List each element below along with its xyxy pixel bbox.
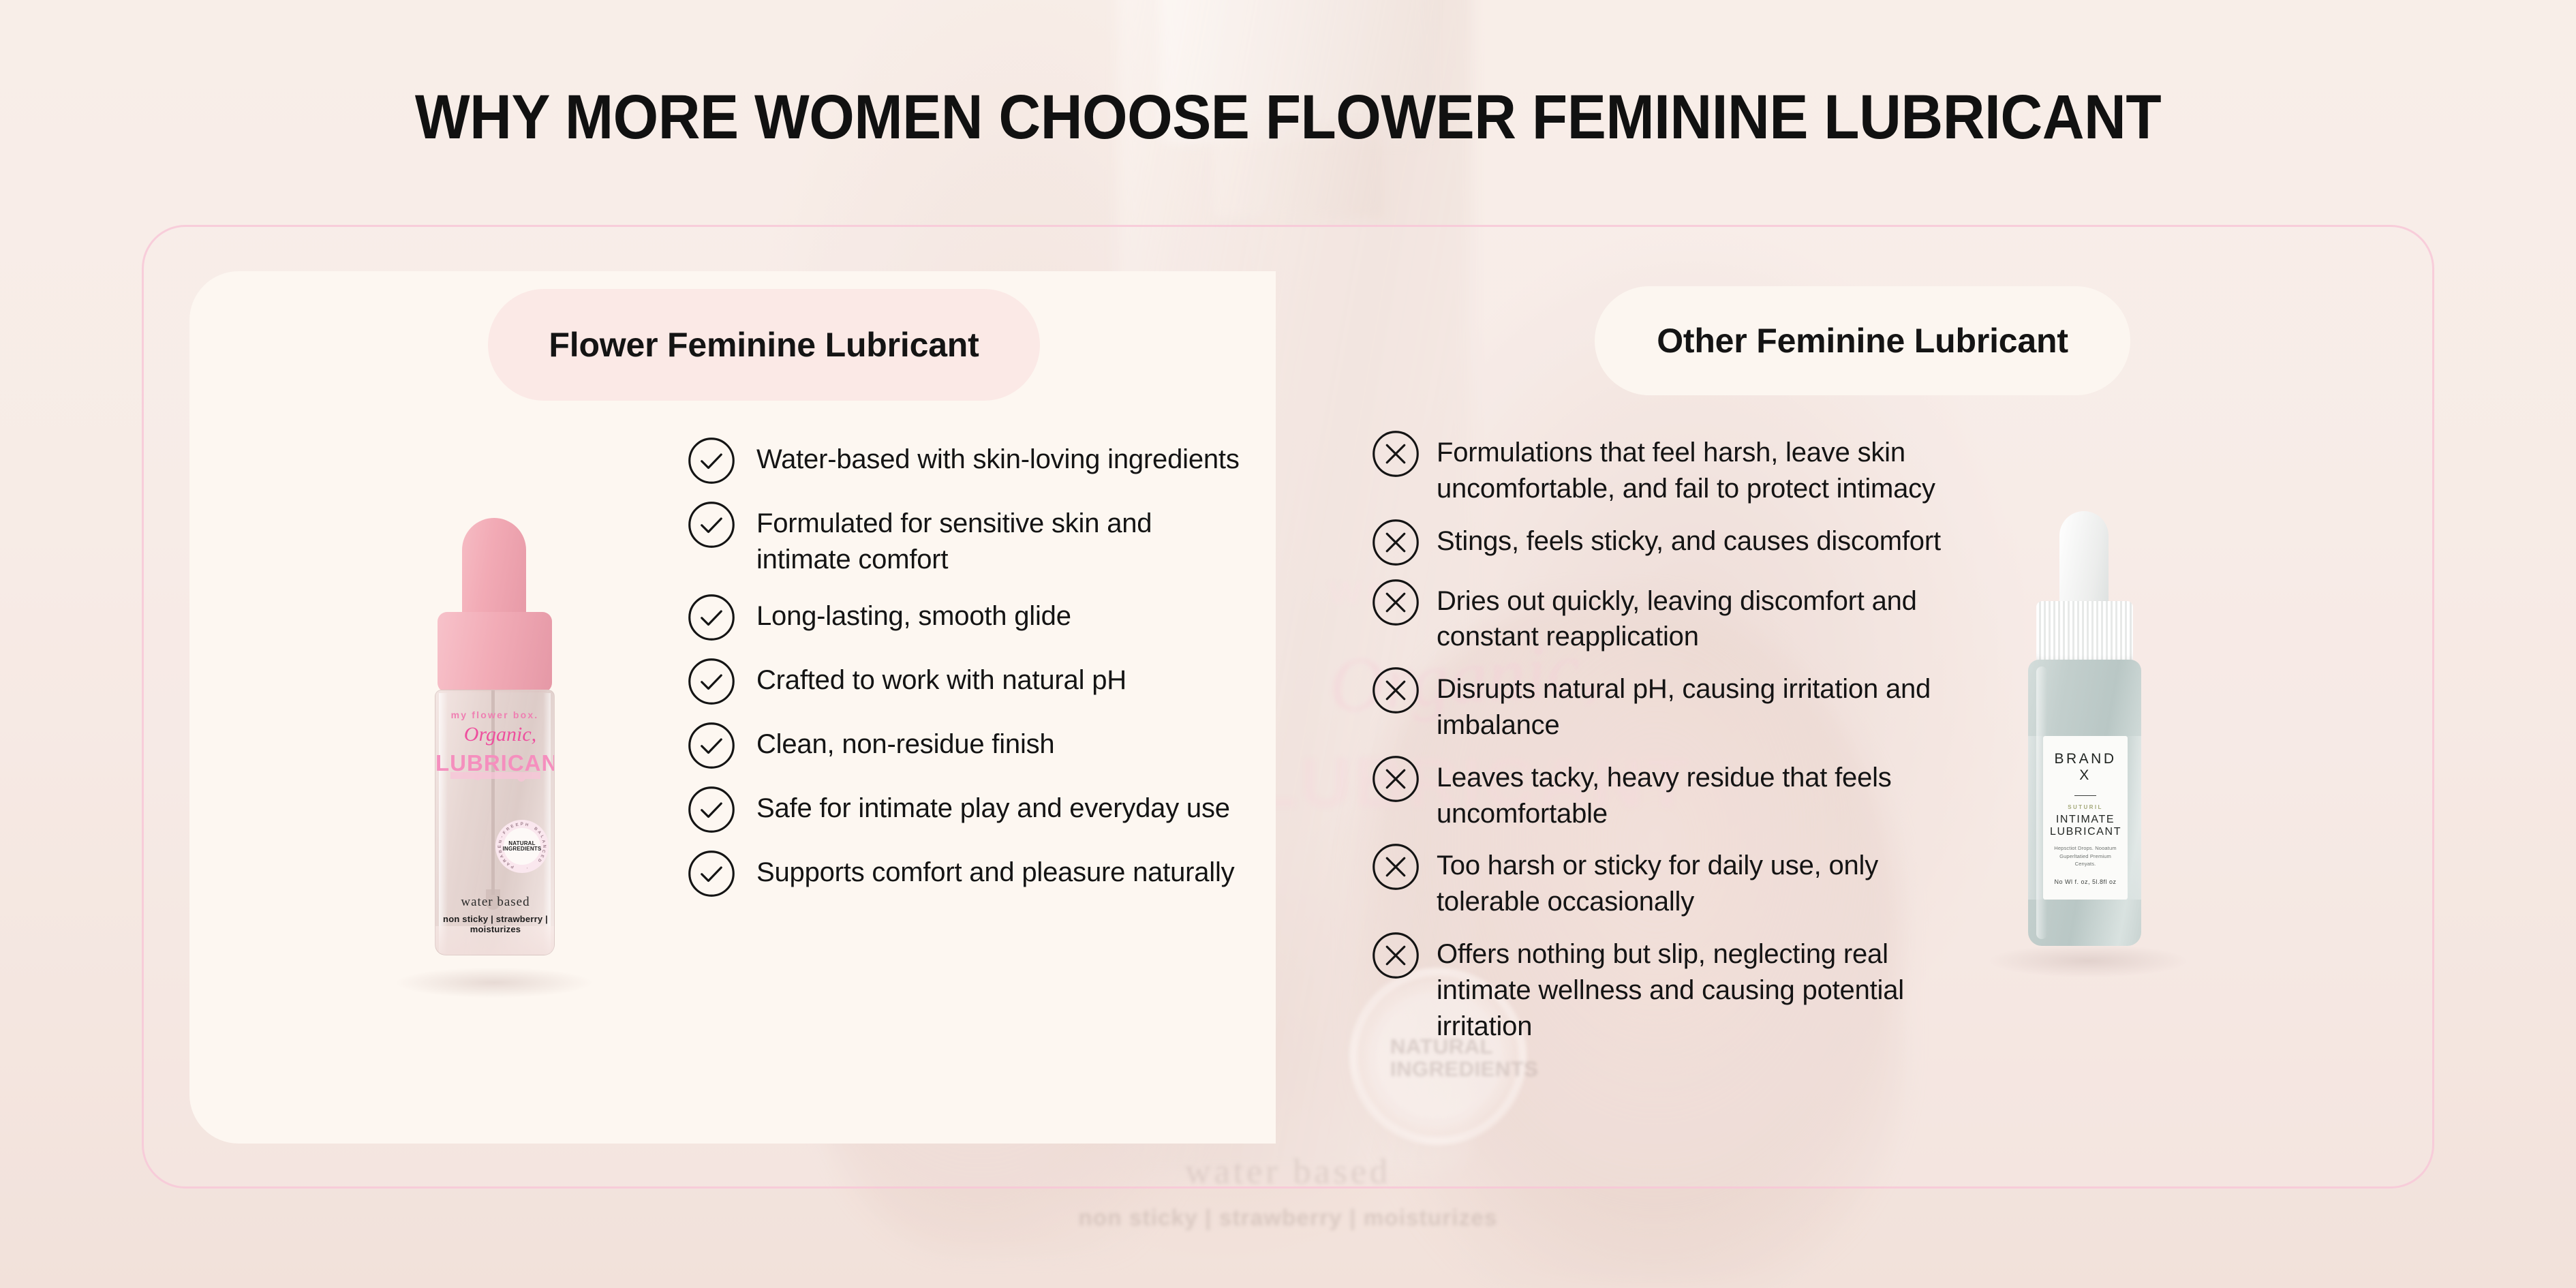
- list-item-text: Supports comfort and pleasure naturally: [756, 849, 1234, 891]
- x-circle-icon: [1371, 666, 1420, 715]
- competitor-dropper-bulb: [2059, 511, 2109, 607]
- flower-product-bottle: my flower box. Organic, LUBRICANT NATURA…: [409, 518, 579, 995]
- list-item-text: Clean, non-residue finish: [756, 721, 1054, 763]
- bottle-brand-label: my flower box.: [435, 709, 554, 720]
- left-column-heading-text: Flower Feminine Lubricant: [549, 325, 979, 365]
- bottle-shadow: [397, 968, 592, 998]
- competitor-label: BRAND X SUTURIL INTIMATE LUBRICANT Hepsc…: [2043, 736, 2128, 900]
- x-circle-icon: [1371, 842, 1420, 891]
- list-item-text: Disrupts natural pH, causing irritation …: [1437, 666, 1971, 743]
- competitor-bottle-shadow: [1990, 945, 2186, 977]
- page-title: WHY MORE WOMEN CHOOSE FLOWER FEMININE LU…: [90, 82, 2485, 153]
- bottle-drip-graphic: [450, 772, 540, 797]
- check-circle-icon: [687, 785, 736, 834]
- list-item: Formulated for sensitive skin and intima…: [687, 500, 1246, 578]
- competitor-label-edge-left: [2028, 736, 2043, 900]
- x-circle-icon: [1371, 518, 1420, 567]
- check-circle-icon: [687, 500, 736, 549]
- competitor-sub-label: SUTURIL: [2050, 804, 2121, 810]
- check-circle-icon: [687, 657, 736, 706]
- benefits-list: Water-based with skin-loving ingredients…: [687, 436, 1246, 913]
- list-item-text: Crafted to work with natural pH: [756, 657, 1126, 699]
- check-circle-icon: [687, 849, 736, 898]
- competitor-product-bottle: BRAND X SUTURIL INTIMATE LUBRICANT Hepsc…: [2008, 511, 2164, 981]
- competitor-volume: No Wl f. oz, 5l.8fl oz: [2050, 878, 2121, 885]
- competitor-description: Hepsctiot Drops. Nooatum Guperltatied Pr…: [2050, 844, 2121, 868]
- check-circle-icon: [687, 721, 736, 770]
- competitor-ribbed-cap: [2036, 601, 2133, 664]
- right-column-heading-pill: Other Feminine Lubricant: [1595, 286, 2130, 395]
- list-item-text: Water-based with skin-loving ingredients: [756, 436, 1240, 478]
- competitor-brand-name: BRAND X: [2050, 751, 2121, 784]
- list-item-text: Offers nothing but slip, neglecting real…: [1437, 931, 1971, 1044]
- competitor-product-name: INTIMATE LUBRICANT: [2050, 814, 2121, 838]
- list-item-text: Formulated for sensitive skin and intima…: [756, 500, 1246, 578]
- list-item: Supports comfort and pleasure naturally: [687, 849, 1246, 898]
- x-circle-icon: [1371, 931, 1420, 980]
- list-item: Safe for intimate play and everyday use: [687, 785, 1246, 834]
- list-item: Water-based with skin-loving ingredients: [687, 436, 1246, 485]
- list-item-text: Too harsh or sticky for daily use, only …: [1437, 842, 1971, 920]
- bottle-organic-label: Organic,: [441, 723, 555, 746]
- x-circle-icon: [1371, 429, 1420, 478]
- bottle-tagline-label: non sticky | strawberry | moisturizes: [435, 914, 555, 934]
- list-item: Disrupts natural pH, causing irritation …: [1371, 666, 1971, 743]
- list-item-text: Safe for intimate play and everyday use: [756, 785, 1230, 827]
- bottle-water-based-label: water based: [435, 895, 555, 910]
- list-item: Stings, feels sticky, and causes discomf…: [1371, 518, 1971, 567]
- bottle-body: my flower box. Organic, LUBRICANT NATURA…: [435, 690, 555, 955]
- bottle-collar: [438, 612, 552, 692]
- list-item-text: Formulations that feel harsh, leave skin…: [1437, 429, 1971, 507]
- list-item: Long-lasting, smooth glide: [687, 593, 1246, 642]
- list-item: Dries out quickly, leaving discomfort an…: [1371, 578, 1971, 656]
- list-item-text: Stings, feels sticky, and causes discomf…: [1437, 518, 1941, 559]
- check-circle-icon: [687, 593, 736, 642]
- check-circle-icon: [687, 436, 736, 485]
- list-item: Formulations that feel harsh, leave skin…: [1371, 429, 1971, 507]
- bottle-dropper-bulb: [462, 518, 526, 620]
- drawbacks-list: Formulations that feel harsh, leave skin…: [1371, 429, 1971, 1055]
- competitor-label-divider: [2074, 795, 2096, 796]
- list-item: Too harsh or sticky for daily use, only …: [1371, 842, 1971, 920]
- bottle-seal-outer-ring: PH BALANCED · PARABEN-FREE: [495, 820, 549, 873]
- left-column-heading-pill: Flower Feminine Lubricant: [488, 289, 1040, 401]
- list-item-text: Leaves tacky, heavy residue that feels u…: [1437, 754, 1971, 832]
- competitor-label-edge-right: [2128, 736, 2141, 900]
- right-column-heading-text: Other Feminine Lubricant: [1657, 321, 2068, 361]
- list-item: Offers nothing but slip, neglecting real…: [1371, 931, 1971, 1044]
- list-item: Clean, non-residue finish: [687, 721, 1246, 770]
- list-item-text: Long-lasting, smooth glide: [756, 593, 1071, 634]
- x-circle-icon: [1371, 754, 1420, 803]
- list-item-text: Dries out quickly, leaving discomfort an…: [1437, 578, 1971, 656]
- list-item: Leaves tacky, heavy residue that feels u…: [1371, 754, 1971, 832]
- list-item: Crafted to work with natural pH: [687, 657, 1246, 706]
- x-circle-icon: [1371, 578, 1420, 627]
